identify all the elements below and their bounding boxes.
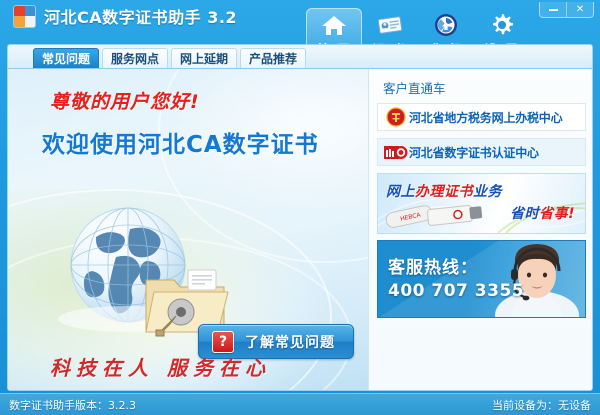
sub-tab-service-points[interactable]: 服务网点 bbox=[102, 48, 168, 68]
status-device: 当前设备为：无设备 bbox=[492, 397, 591, 413]
hebca-logo-icon bbox=[383, 144, 409, 161]
sub-tab-online-renewal[interactable]: 网上延期 bbox=[171, 48, 237, 68]
home-icon bbox=[319, 11, 349, 38]
sidebar-panel: 客户直通车 河北省地方税务网上办税中心 bbox=[368, 69, 593, 391]
sub-tab-bar: 常见问题 服务网点 网上延期 产品推荐 bbox=[8, 45, 592, 69]
tax-emblem-icon bbox=[383, 107, 409, 127]
faq-button-label: 了解常见问题 bbox=[245, 332, 335, 352]
gear-icon bbox=[487, 11, 517, 38]
promo-line-1-c: 业务 bbox=[473, 184, 502, 200]
sidebar-title: 客户直通车 bbox=[383, 78, 586, 97]
hero-panel: 尊敬的用户您好! 欢迎使用河北CA数字证书 ? 了解常见问题 科技在人 服务在心 bbox=[8, 69, 368, 391]
status-version: 数字证书助手版本：3.2.3 bbox=[9, 397, 136, 413]
hero-headline-red: 尊敬的用户您好! bbox=[50, 87, 200, 114]
customer-service-agent-photo bbox=[487, 241, 583, 318]
hero-headline-blue: 欢迎使用河北CA数字证书 bbox=[42, 125, 319, 159]
client-area: 常见问题 服务网点 网上延期 产品推荐 bbox=[7, 44, 593, 391]
window-title: 河北CA数字证书助手 3.2 bbox=[44, 4, 237, 28]
promo-line-1-a: 网上 bbox=[386, 184, 415, 200]
hotline-number: 400 707 3355 bbox=[388, 281, 524, 301]
minimize-button[interactable] bbox=[540, 2, 567, 17]
application-window: 河北CA数字证书助手 3.2 ✕ 首 页 bbox=[0, 0, 600, 415]
shield-window-icon bbox=[14, 6, 35, 27]
promo-line-1-b: 办理证书 bbox=[415, 184, 473, 200]
upgrade-clock-icon bbox=[431, 11, 461, 38]
slogan-text: 科技在人 服务在心 bbox=[50, 352, 271, 381]
sub-tab-faq[interactable]: 常见问题 bbox=[33, 48, 99, 68]
promo-banner[interactable]: HEBCA 网上办理证书业务 省时省事! bbox=[377, 173, 586, 234]
question-mark-icon: ? bbox=[212, 331, 234, 353]
promo-line-2-a: 省时 bbox=[510, 206, 539, 222]
sidebar-link-hebca[interactable]: 河北省数字证书认证中心 bbox=[377, 138, 586, 166]
promo-line-1: 网上办理证书业务 bbox=[386, 181, 502, 201]
certificate-card-icon bbox=[375, 11, 405, 38]
sub-tab-product-recommend[interactable]: 产品推荐 bbox=[240, 48, 306, 68]
sidebar-link-tax-center-label: 河北省地方税务网上办税中心 bbox=[409, 109, 562, 126]
promo-line-2: 省时省事! bbox=[510, 203, 575, 223]
close-button[interactable]: ✕ bbox=[567, 2, 593, 17]
status-bar: 数字证书助手版本：3.2.3 当前设备为：无设备 bbox=[0, 393, 600, 415]
hotline-banner: 客服热线： 400 707 3355 bbox=[377, 240, 586, 318]
sidebar-link-hebca-label: 河北省数字证书认证中心 bbox=[409, 144, 539, 161]
promo-line-2-c: ! bbox=[568, 206, 575, 222]
promo-line-2-b: 省事 bbox=[539, 206, 568, 222]
sidebar-link-tax-center[interactable]: 河北省地方税务网上办税中心 bbox=[377, 103, 586, 131]
hotline-label: 客服热线： bbox=[388, 253, 478, 278]
content-panes: 尊敬的用户您好! 欢迎使用河北CA数字证书 ? 了解常见问题 科技在人 服务在心… bbox=[8, 69, 592, 391]
window-controls: ✕ bbox=[539, 2, 594, 18]
